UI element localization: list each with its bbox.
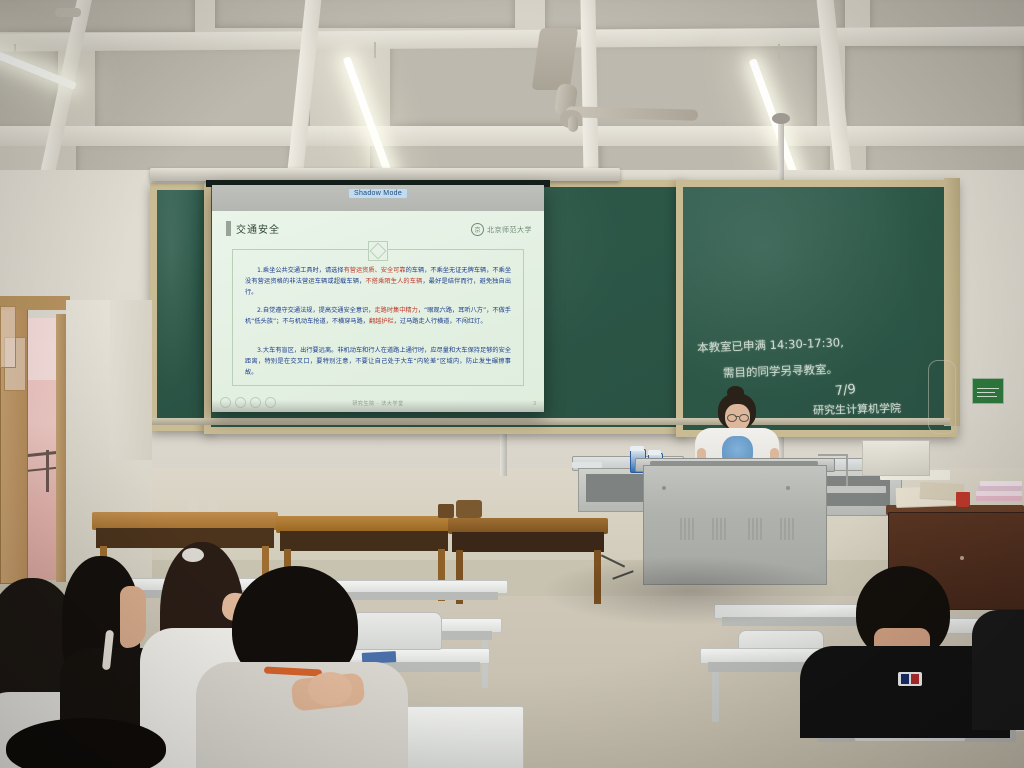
slide-title-accent [226,221,231,236]
lecturer-glasses-right [739,414,749,422]
ceiling [0,0,1024,178]
slide-ornament-diamond [368,241,388,261]
podium-side-bracket [818,454,848,486]
slide-paragraph-1: 1.乘坐公共交通工具时，请选择有营运资质、安全可靠的车辆，不乘坐无证无牌车辆，不… [245,266,511,299]
mic-head-icon [772,113,790,124]
chalk-tray [150,418,950,425]
shadow-mode-badge[interactable]: Shadow Mode [349,189,407,198]
chair-row2[interactable] [352,612,442,650]
slide-title: 交通安全 [236,221,280,236]
blackboard-right-panel: 本教室已申满 14:30-17:30, 需目的同学另寻教室。 7/9 研究生计算… [676,180,958,437]
slide-text-run: 1.乘坐公共交通工具时，请选择 [257,267,344,274]
university-logo-name: 北京师范大学 [487,225,532,235]
door-side-glass [0,306,16,368]
wooden-table-3-apron [452,532,604,552]
wooden-table-1-apron [96,528,274,548]
slide-text-highlight: 有营运资质、安全可靠 [344,267,406,274]
lecturer-hair-bun [727,386,744,399]
classroom-photo: 本教室已申满 14:30-17:30, 需目的同学另寻教室。 7/9 研究生计算… [0,0,1024,768]
red-cup [956,492,970,507]
wall-fixture-outline [928,360,956,434]
slide-text-highlight: 翻越护栏 [369,318,394,325]
university-logo: 京 北京师范大学 [471,223,532,236]
wooden-table-2-apron [280,531,448,551]
student-gray-shirt-hands [308,672,352,706]
blackboard-left-panel [150,183,212,431]
slide-text-highlight: 走路时集中精力 [374,307,417,314]
slide-body: 交通安全 京 北京师范大学 1.乘坐公共交通工具时，请选择有营运资质、安全可靠的… [212,211,544,412]
small-item-on-table [188,498,198,511]
slide-paragraph-2: 2.自觉遵守交通法规，提高交通安全意识，走路时集中精力，“眼观六路，耳听八方”，… [245,306,511,328]
student-black-top-shoulder [120,586,146,648]
object-on-wooden-table [438,504,454,518]
slide-text-run: 3.大车有盲区，出行要远离。非机动车和行人在道路上通行时，应尽量和大车保持足够的… [245,347,511,376]
wall-safety-sign [972,378,1004,404]
hair-tie [182,548,204,562]
projection-screen: Shadow Mode 交通安全 京 北京师范大学 1.乘坐公共交通工具时，请选… [212,185,544,412]
university-logo-mark: 京 [471,223,484,236]
slide-letterbox-top: Shadow Mode [212,185,544,211]
left-wall-shadow [110,300,152,460]
object-on-wooden-table-2 [456,500,482,518]
slide-text-run: 2.自觉遵守交通法规，提高交通安全意识， [257,307,374,314]
book-stack [976,496,1022,501]
smoke-detector-icon [55,8,81,17]
slide-paragraph-3: 3.大车有盲区，出行要远离。非机动车和行人在道路上通行时，应尽量和大车保持足够的… [245,346,511,379]
blackboard-signature: 研究生计算机学院 [813,400,901,418]
slide-text-highlight: 不搭乘陌生人的车辆 [365,278,422,285]
ceiling-light-center [342,56,394,178]
cabinet-knob-icon[interactable] [960,556,964,560]
slide-content-panel: 1.乘坐公共交通工具时，请选择有营运资质、安全可靠的车辆，不乘坐无证无牌车辆，不… [232,249,524,386]
small-item-on-table-2 [208,498,218,511]
student-right-edge-torso [972,610,1024,730]
blackboard-date: 7/9 [834,382,856,399]
right-wall-shelf [862,440,930,476]
mlb-logo-icon [898,672,922,686]
paper-on-desk [572,462,602,468]
slide-text-run: ，过马路走人行横道，不闯红灯。 [394,318,487,325]
